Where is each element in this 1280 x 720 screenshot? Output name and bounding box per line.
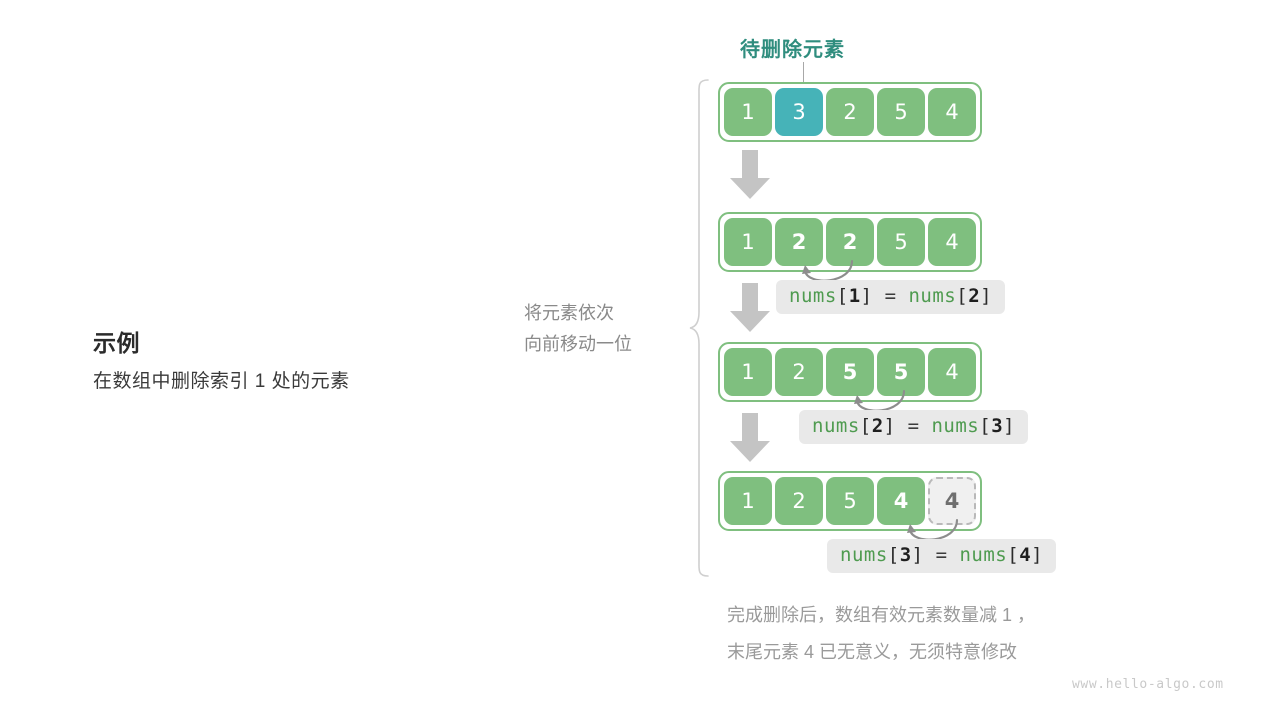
array-cell[interactable]: 2	[775, 348, 823, 396]
array-cell-obsolete[interactable]: 4	[928, 477, 976, 525]
example-description: 在数组中删除索引 1 处的元素	[93, 366, 350, 393]
array-cell-updated[interactable]: 5	[826, 348, 874, 396]
assignment-label-3: nums[3] = nums[4]	[827, 539, 1056, 573]
move-elements-note: 将元素依次 向前移动一位	[524, 298, 632, 360]
array-row-step1: 1 2 2 5 4	[718, 212, 982, 272]
code-bracket: [	[1007, 544, 1019, 566]
array-cell-updated[interactable]: 4	[877, 477, 925, 525]
down-arrow-icon	[729, 150, 771, 200]
assignment-label-2: nums[2] = nums[3]	[799, 410, 1028, 444]
code-index: 3	[991, 415, 1003, 437]
array-cell[interactable]: 4	[928, 218, 976, 266]
watermark: www.hello-algo.com	[1072, 677, 1224, 692]
array-cell[interactable]: 1	[724, 348, 772, 396]
array-cell-updated[interactable]: 2	[775, 218, 823, 266]
delete-target-caption: 待删除元素	[740, 33, 845, 62]
grouping-brace-icon	[688, 78, 714, 578]
code-identifier: nums	[840, 544, 888, 566]
code-bracket: [	[837, 285, 849, 307]
result-note: 完成删除后，数组有效元素数量减 1 ， 末尾元素 4 已无意义，无须特意修改	[727, 597, 1035, 671]
array-cell[interactable]: 2	[775, 477, 823, 525]
down-arrow-icon	[729, 283, 771, 333]
code-bracket: ]	[861, 285, 873, 307]
example-title: 示例	[93, 324, 140, 358]
array-cell-highlighted[interactable]: 3	[775, 88, 823, 136]
code-index: 3	[900, 544, 912, 566]
array-cell[interactable]: 2	[826, 88, 874, 136]
move-note-line-2: 向前移动一位	[524, 329, 632, 360]
code-identifier: nums	[812, 415, 860, 437]
array-cell[interactable]: 4	[928, 88, 976, 136]
code-operator: =	[885, 285, 897, 307]
array-cell[interactable]: 5	[877, 218, 925, 266]
array-cell-source[interactable]: 5	[877, 348, 925, 396]
code-index: 2	[968, 285, 980, 307]
array-cell[interactable]: 5	[826, 477, 874, 525]
code-identifier: nums	[908, 285, 956, 307]
array-cell[interactable]: 5	[877, 88, 925, 136]
code-bracket: ]	[884, 415, 896, 437]
code-identifier: nums	[789, 285, 837, 307]
array-cell[interactable]: 1	[724, 477, 772, 525]
code-operator: =	[908, 415, 920, 437]
code-index: 4	[1019, 544, 1031, 566]
code-identifier: nums	[959, 544, 1007, 566]
code-operator: =	[936, 544, 948, 566]
code-index: 1	[849, 285, 861, 307]
code-bracket: [	[860, 415, 872, 437]
array-cell-source[interactable]: 2	[826, 218, 874, 266]
result-note-line-2: 末尾元素 4 已无意义，无须特意修改	[727, 634, 1035, 671]
code-bracket: ]	[980, 285, 992, 307]
code-bracket: [	[888, 544, 900, 566]
down-arrow-icon	[729, 413, 771, 463]
array-row-step2: 1 2 5 5 4	[718, 342, 982, 402]
array-cell[interactable]: 4	[928, 348, 976, 396]
result-note-line-1: 完成删除后，数组有效元素数量减 1 ，	[727, 597, 1035, 634]
diagram-canvas: 示例 在数组中删除索引 1 处的元素 将元素依次 向前移动一位 待删除元素 1 …	[0, 0, 1280, 720]
assignment-label-1: nums[1] = nums[2]	[776, 280, 1005, 314]
code-index: 2	[872, 415, 884, 437]
array-row-initial: 1 3 2 5 4	[718, 82, 982, 142]
code-identifier: nums	[931, 415, 979, 437]
array-cell[interactable]: 1	[724, 88, 772, 136]
move-note-line-1: 将元素依次	[524, 298, 632, 329]
array-row-step3: 1 2 5 4 4	[718, 471, 982, 531]
code-bracket: [	[979, 415, 991, 437]
code-bracket: [	[956, 285, 968, 307]
code-bracket: ]	[1031, 544, 1043, 566]
code-bracket: ]	[912, 544, 924, 566]
code-bracket: ]	[1003, 415, 1015, 437]
array-cell[interactable]: 1	[724, 218, 772, 266]
